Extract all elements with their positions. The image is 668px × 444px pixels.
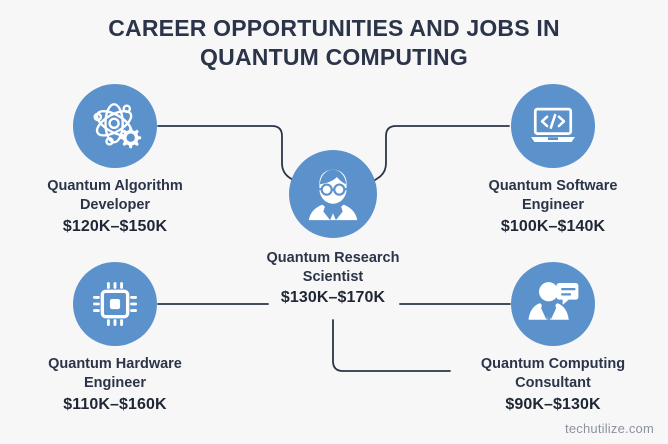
node-icon-circle[interactable] xyxy=(511,262,595,346)
laptop-code-icon xyxy=(526,99,580,153)
node-label: Quantum Hardware Engineer xyxy=(10,355,220,392)
node-quantum-research-scientist[interactable]: Quantum Research Scientist $130K–$170K xyxy=(229,150,437,307)
node-salary: $130K–$170K xyxy=(229,289,437,307)
infographic-canvas: CAREER OPPORTUNITIES AND JOBS IN QUANTUM… xyxy=(0,0,668,444)
node-label: Quantum Research Scientist xyxy=(229,249,437,286)
node-quantum-hardware-engineer[interactable]: Quantum Hardware Engineer $110K–$160K xyxy=(10,262,220,414)
node-label-line-1: Quantum Research xyxy=(267,250,400,266)
node-salary: $100K–$140K xyxy=(448,218,658,236)
node-label-line-2: Consultant xyxy=(515,375,591,391)
node-icon-circle[interactable] xyxy=(289,150,377,238)
node-label: Quantum Software Engineer xyxy=(448,177,658,214)
node-quantum-computing-consultant[interactable]: Quantum Computing Consultant $90K–$130K xyxy=(448,262,658,414)
node-label-line-2: Engineer xyxy=(522,197,584,213)
atom-gear-icon xyxy=(86,97,144,155)
node-label-line-1: Quantum Hardware xyxy=(48,356,182,372)
node-label: Quantum Algorithm Developer xyxy=(10,177,220,214)
node-salary: $120K–$150K xyxy=(10,218,220,236)
node-label-line-2: Scientist xyxy=(303,269,363,285)
node-icon-circle[interactable] xyxy=(511,84,595,168)
node-label-line-1: Quantum Software xyxy=(489,178,618,194)
page-title-line-1: CAREER OPPORTUNITIES AND JOBS IN xyxy=(0,14,668,43)
node-label-line-2: Developer xyxy=(80,197,150,213)
node-quantum-algorithm-developer[interactable]: Quantum Algorithm Developer $120K–$150K xyxy=(10,84,220,236)
microchip-icon xyxy=(88,277,142,331)
node-label-line-1: Quantum Algorithm xyxy=(47,178,183,194)
scientist-icon xyxy=(302,163,364,225)
consultant-chat-icon xyxy=(525,276,581,332)
node-salary: $110K–$160K xyxy=(10,396,220,414)
node-salary: $90K–$130K xyxy=(448,396,658,414)
node-label: Quantum Computing Consultant xyxy=(448,355,658,392)
page-title: CAREER OPPORTUNITIES AND JOBS IN QUANTUM… xyxy=(0,14,668,73)
page-title-line-2: QUANTUM COMPUTING xyxy=(0,43,668,72)
connector-center-down-to-consultant xyxy=(333,320,450,371)
node-label-line-2: Engineer xyxy=(84,375,146,391)
node-icon-circle[interactable] xyxy=(73,262,157,346)
node-icon-circle[interactable] xyxy=(73,84,157,168)
node-label-line-1: Quantum Computing xyxy=(481,356,625,372)
watermark: techutilize.com xyxy=(565,421,654,436)
node-quantum-software-engineer[interactable]: Quantum Software Engineer $100K–$140K xyxy=(448,84,658,236)
